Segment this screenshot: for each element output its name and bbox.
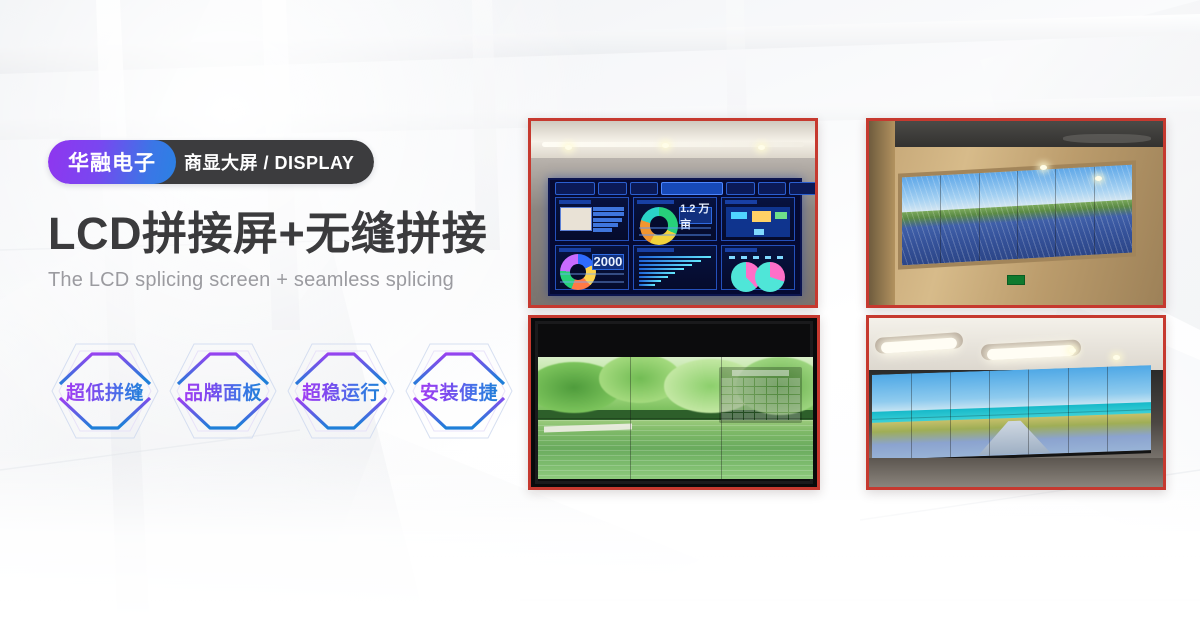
- promo-banner: 华融电子 商显大屏 / DISPLAY LCD拼接屏+无缝拼接 The LCD …: [0, 0, 1200, 640]
- photo-dashboard-wall[interactable]: 1.2 万亩: [528, 118, 818, 308]
- feature-label: 超低拼缝: [66, 378, 144, 405]
- brand-badge: 华融电子 商显大屏 / DISPLAY: [48, 140, 374, 184]
- video-wall-screen: [538, 357, 813, 479]
- photo-beach-wall[interactable]: [866, 315, 1166, 490]
- headline-block: 华融电子 商显大屏 / DISPLAY LCD拼接屏+无缝拼接 The LCD …: [48, 140, 518, 292]
- page-title: LCD拼接屏+无缝拼接: [48, 210, 518, 257]
- feature-label: 超稳运行: [302, 378, 380, 405]
- feature-list: 超低拼缝 品牌面板 超稳运行: [46, 332, 518, 450]
- photo-solar-wall[interactable]: [866, 118, 1166, 308]
- feature-item-2: 品牌面板: [164, 332, 282, 450]
- category-label: 商显大屏 / DISPLAY: [154, 140, 374, 184]
- photo-lake-wall[interactable]: [528, 315, 820, 490]
- video-wall-screen: [872, 365, 1151, 462]
- photo-gallery: 1.2 万亩: [528, 118, 1168, 490]
- feature-label: 品牌面板: [184, 378, 262, 405]
- feature-item-1: 超低拼缝: [46, 332, 164, 450]
- brand-name: 华融电子: [48, 140, 176, 184]
- feature-item-3: 超稳运行: [282, 332, 400, 450]
- page-subtitle: The LCD splicing screen + seamless splic…: [48, 269, 518, 292]
- feature-label: 安装便捷: [420, 378, 498, 405]
- bar-chart: [639, 256, 712, 286]
- exit-sign-icon: [1007, 275, 1025, 285]
- feature-item-4: 安装便捷: [400, 332, 518, 450]
- dashboard-screen: 1.2 万亩: [548, 178, 802, 296]
- calendar-overlay: [719, 367, 801, 423]
